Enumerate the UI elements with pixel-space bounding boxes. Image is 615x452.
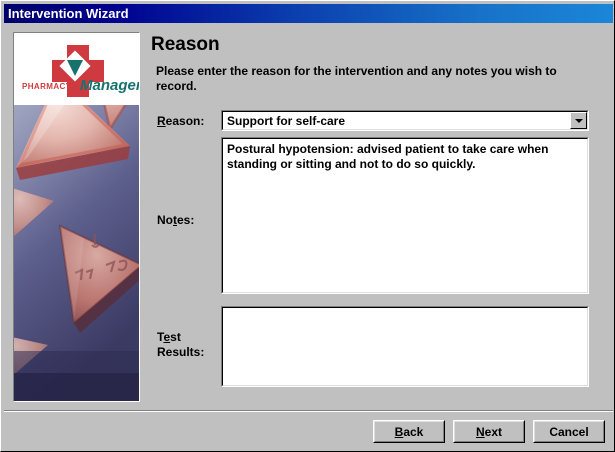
cancel-button-label: Cancel — [549, 425, 588, 439]
back-button-suffix: ack — [403, 425, 423, 439]
page-title: Reason — [151, 34, 220, 56]
reason-selected-value: Support for self-care — [223, 114, 345, 128]
chevron-down-icon[interactable] — [570, 112, 587, 129]
reason-label: Reason: — [157, 114, 204, 129]
test-results-label-line2: Results: — [157, 345, 204, 359]
logo-pharmacy-text: PHARMACY — [22, 82, 71, 91]
title-bar: Intervention Wizard — [4, 4, 613, 23]
cancel-button[interactable]: Cancel — [533, 420, 605, 443]
notes-label-prefix: No — [157, 213, 173, 227]
logo-manager-text: Manager — [80, 77, 140, 94]
reason-label-accel: R — [157, 114, 166, 128]
test-results-label: TestResults: — [157, 330, 217, 360]
notes-label: Notes: — [157, 213, 194, 228]
test-results-value — [223, 308, 587, 311]
back-button-accel: B — [395, 425, 404, 439]
window-title: Intervention Wizard — [4, 6, 129, 21]
next-button[interactable]: Next — [453, 420, 525, 443]
reason-dropdown[interactable]: Support for self-care — [221, 110, 589, 131]
reason-label-suffix: eason: — [166, 114, 205, 128]
notes-textarea[interactable]: Postural hypotension: advised patient to… — [221, 137, 589, 294]
footer-divider — [4, 410, 613, 412]
pharmacy-manager-logo: PHARMACY Manager — [14, 33, 139, 105]
back-button[interactable]: Back — [373, 420, 445, 443]
wizard-illustration-panel: PHARMACY Manager — [13, 32, 140, 402]
test-results-label-suffix: st — [170, 330, 181, 344]
test-results-textarea[interactable] — [221, 306, 589, 387]
next-button-suffix: ext — [485, 425, 502, 439]
notes-label-suffix: es: — [177, 213, 194, 227]
page-instruction: Please enter the reason for the interven… — [156, 64, 596, 94]
next-button-accel: N — [476, 425, 485, 439]
intervention-wizard-dialog: Intervention Wizard — [0, 0, 615, 452]
notes-value: Postural hypotension: advised patient to… — [223, 139, 587, 172]
